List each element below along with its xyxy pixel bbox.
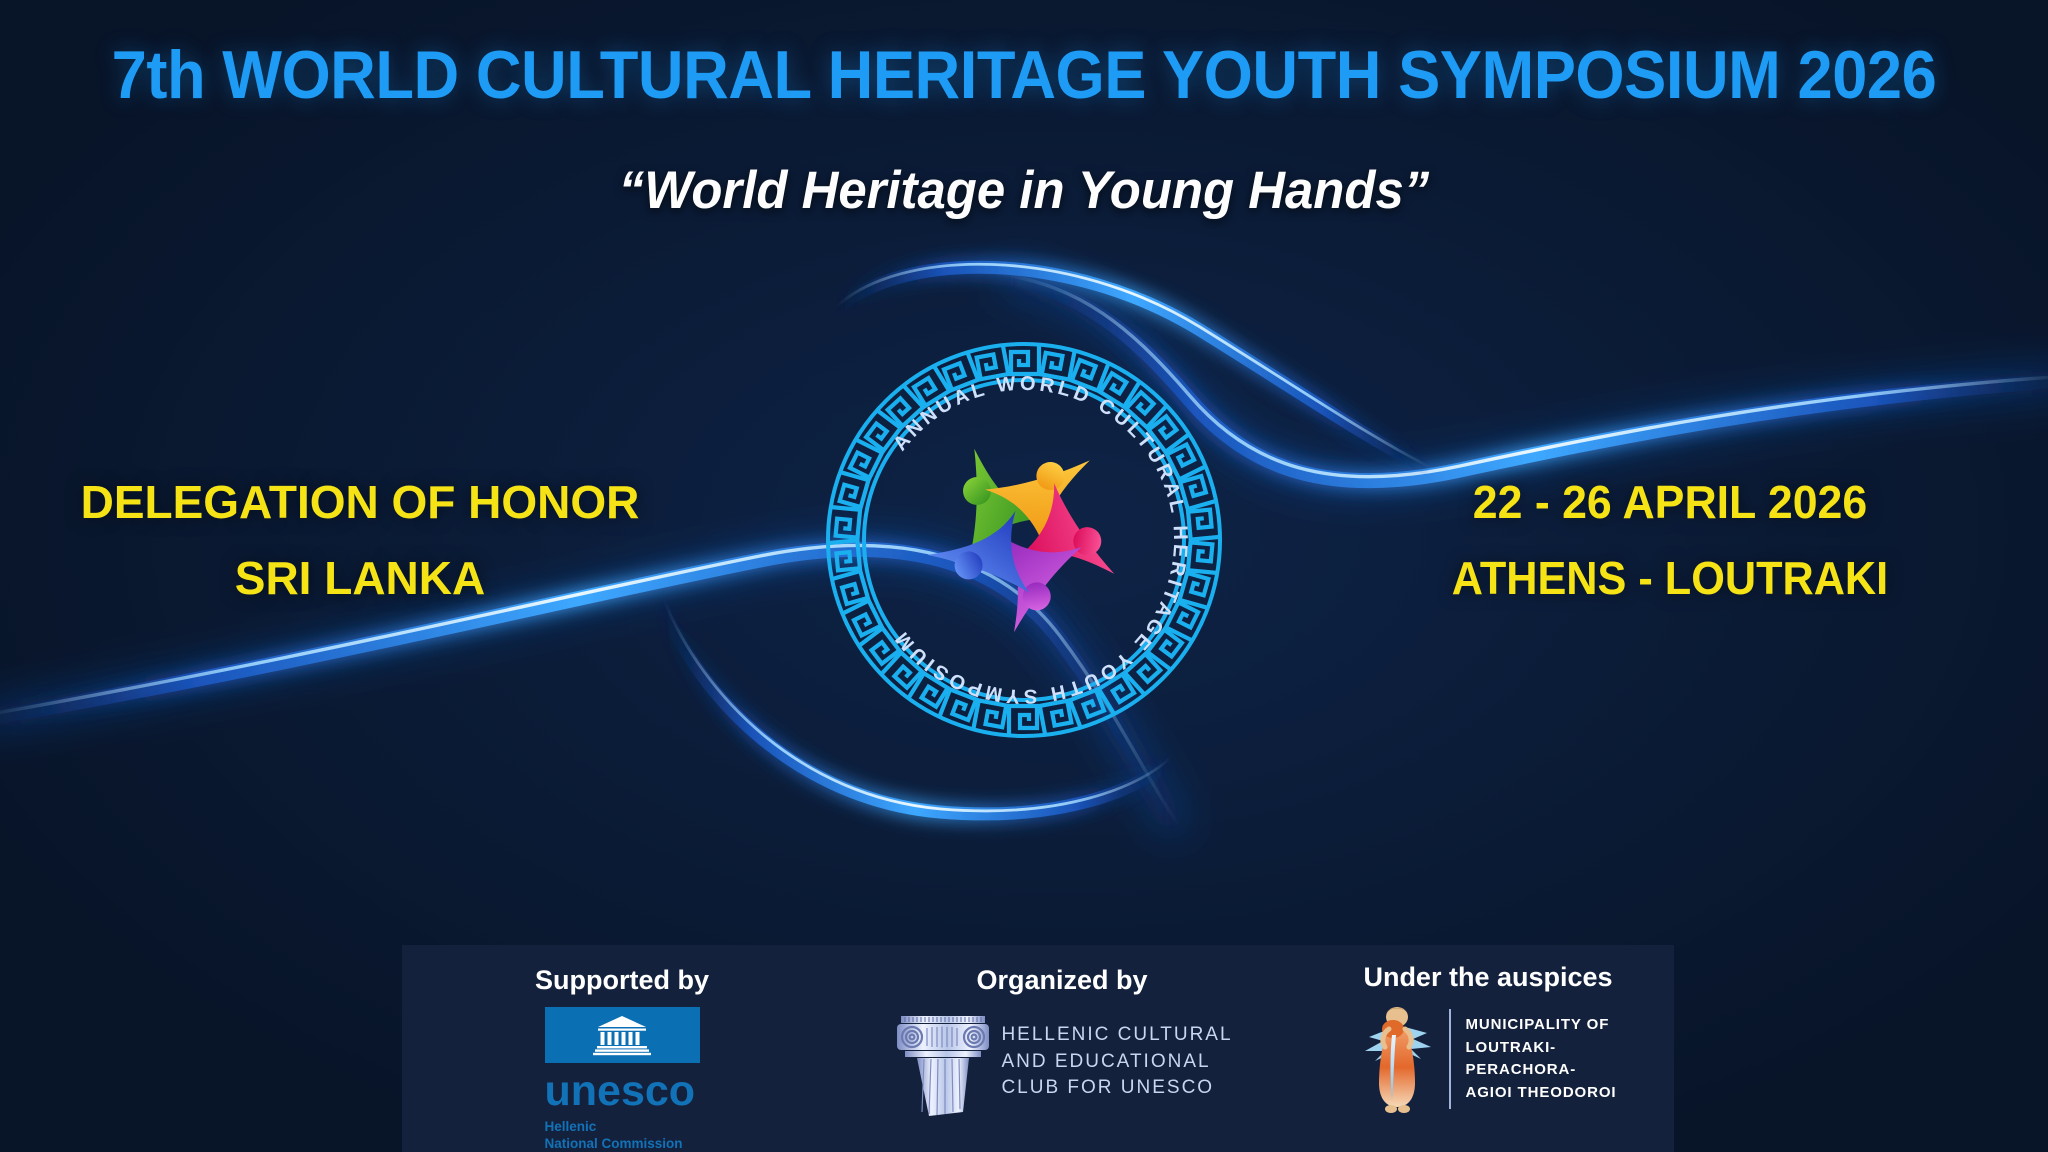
greek-temple-icon <box>591 1014 653 1056</box>
municipality-name-line3: PERACHORA- <box>1465 1059 1616 1082</box>
auspices-divider <box>1449 1009 1451 1109</box>
unesco-subtitle-line1: Hellenic <box>545 1119 700 1136</box>
page-subtitle: “World Heritage in Young Hands” <box>41 160 2007 221</box>
emblem-outer-ring <box>828 344 1220 736</box>
municipality-name-line4: AGIOI THEODOROI <box>1465 1082 1616 1105</box>
unesco-logo: unesco Hellenic National Commission <box>545 1007 700 1152</box>
municipality-name: MUNICIPALITY OF LOUTRAKI- PERACHORA- AGI… <box>1465 1014 1616 1104</box>
unesco-wordmark: unesco <box>545 1070 700 1113</box>
delegation-heading: DELEGATION OF HONOR <box>81 476 640 528</box>
page-title: 7th WORLD CULTURAL HERITAGE YOUTH SYMPOS… <box>72 36 1977 114</box>
under-auspices-heading: Under the auspices <box>1302 962 1674 993</box>
sponsor-under-auspices: Under the auspices <box>1302 945 1674 1152</box>
sponsor-bar: Supported by <box>402 945 1674 1152</box>
unesco-subtitle-line2: National Commission <box>545 1136 700 1152</box>
event-location: ATHENS - LOUTRAKI <box>1435 554 1905 602</box>
symposium-emblem: ANNUAL WORLD CULTURAL HERITAGE YOUTH SYM… <box>812 328 1236 752</box>
municipality-name-line1: MUNICIPALITY OF <box>1465 1014 1616 1037</box>
unesco-temple-icon <box>545 1007 700 1063</box>
organizer-name: HELLENIC CULTURAL AND EDUCATIONAL CLUB F… <box>1001 1022 1232 1103</box>
nymph-with-jug-icon <box>1359 1003 1435 1115</box>
emblem-star-figures <box>903 422 1151 665</box>
supported-by-heading: Supported by <box>412 965 832 996</box>
organizer-name-line2: AND EDUCATIONAL <box>1001 1049 1232 1076</box>
unesco-subtitle: Hellenic National Commission <box>545 1119 700 1152</box>
sponsor-organized-by: Organized by <box>822 945 1302 1152</box>
poster-root: 7th WORLD CULTURAL HERITAGE YOUTH SYMPOS… <box>0 0 2048 1152</box>
delegation-country: SRI LANKA <box>40 554 680 602</box>
organized-by-heading: Organized by <box>822 965 1302 996</box>
ionic-column-icon <box>891 1008 995 1116</box>
organizer-name-line3: CLUB FOR UNESCO <box>1001 1075 1232 1102</box>
event-dates: 22 - 26 APRIL 2026 <box>1428 478 1913 526</box>
organizer-name-line1: HELLENIC CULTURAL <box>1001 1022 1232 1049</box>
delegation-of-honor-block: DELEGATION OF HONOR SRI LANKA <box>40 478 680 603</box>
event-details-block: 22 - 26 APRIL 2026 ATHENS - LOUTRAKI <box>1420 478 1920 603</box>
sponsor-supported-by: Supported by <box>412 945 832 1152</box>
municipality-name-line2: LOUTRAKI- <box>1465 1037 1616 1060</box>
